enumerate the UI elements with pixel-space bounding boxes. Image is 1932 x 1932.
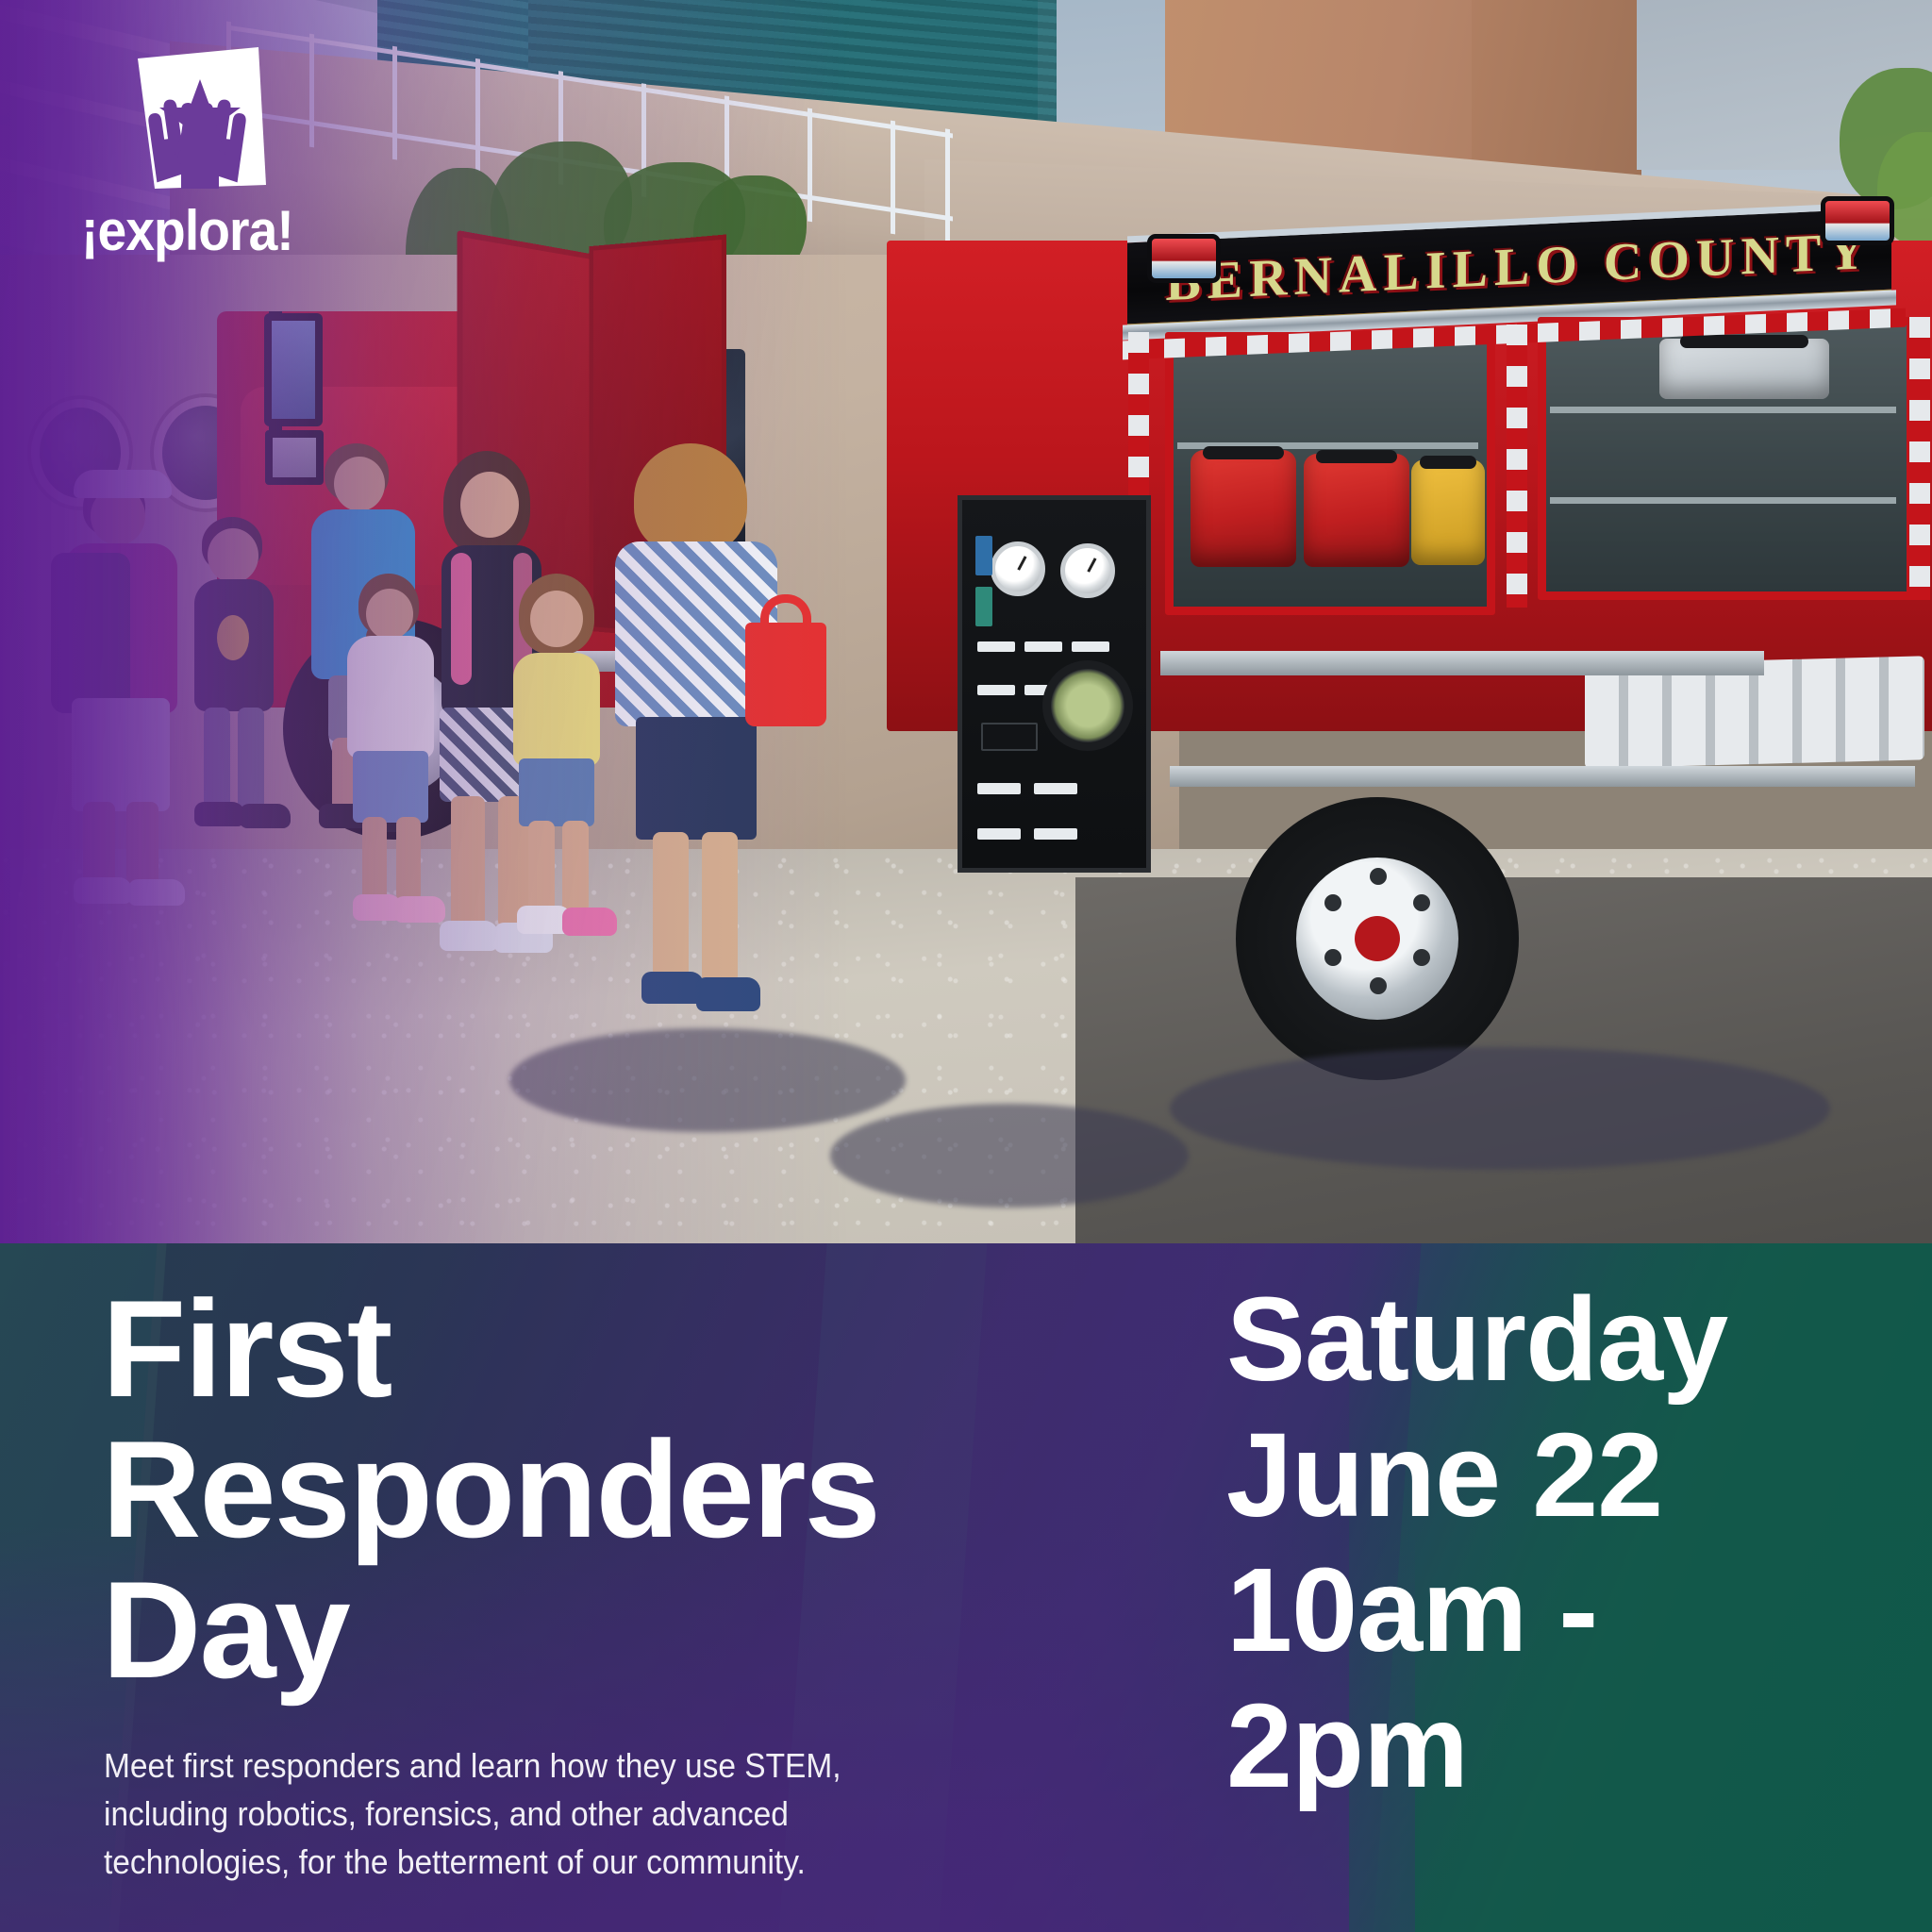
event-day: Saturday [1226, 1272, 1887, 1407]
event-description-line2: including robotics, forensics, and other… [104, 1790, 973, 1838]
event-date: June 22 [1226, 1407, 1887, 1543]
hands-star-house-icon [117, 45, 273, 201]
explora-wordmark: ¡explora! [81, 198, 315, 263]
event-title-line1: First [102, 1279, 1045, 1420]
event-description: Meet first responders and learn how they… [104, 1741, 973, 1886]
event-title: First Responders Day [102, 1279, 1045, 1701]
event-poster: BERNALILLO COUNTY [0, 0, 1932, 1932]
event-time-line2: 2pm [1226, 1678, 1887, 1814]
event-description-line1: Meet first responders and learn how they… [104, 1741, 973, 1790]
event-time-line1: 10am - [1226, 1542, 1887, 1678]
event-title-line2: Responders [102, 1420, 1045, 1560]
event-datetime: Saturday June 22 10am - 2pm [1226, 1272, 1887, 1814]
event-title-line3: Day [102, 1560, 1045, 1701]
hero-photo: BERNALILLO COUNTY [0, 0, 1932, 1243]
event-description-line3: technologies, for the betterment of our … [104, 1838, 973, 1886]
explora-logo: ¡explora! [81, 45, 336, 272]
